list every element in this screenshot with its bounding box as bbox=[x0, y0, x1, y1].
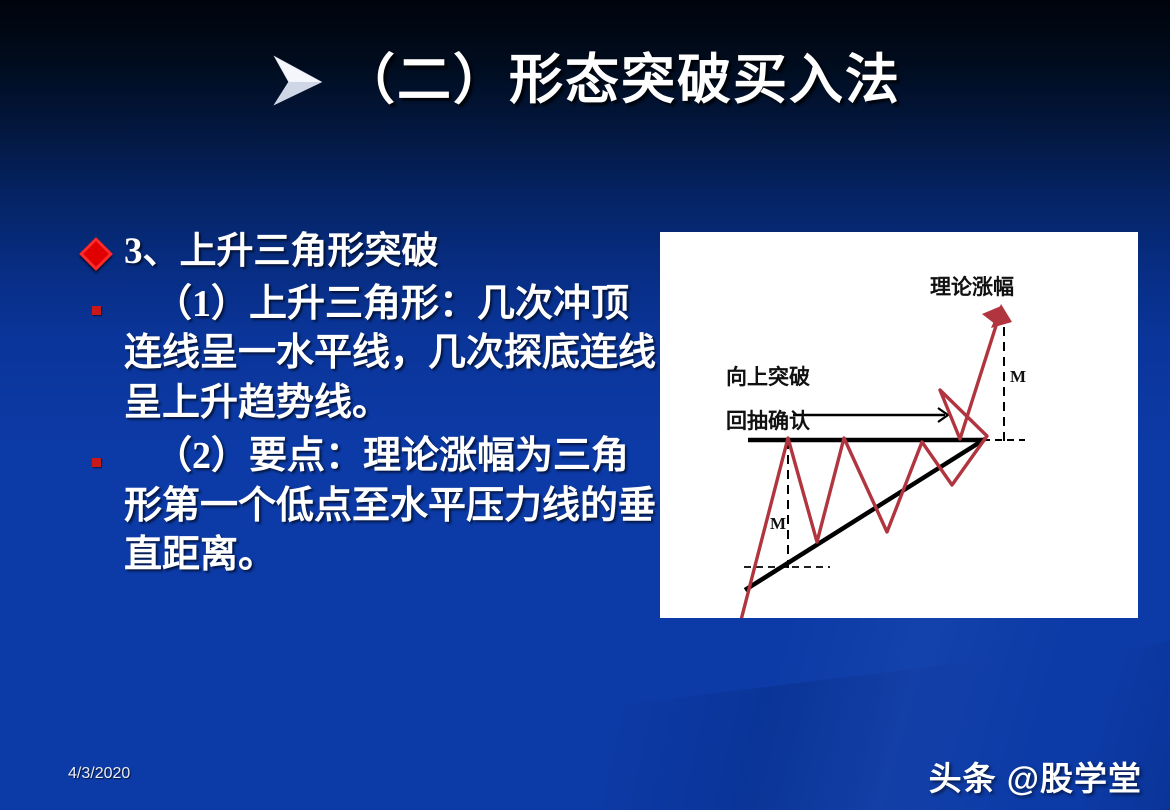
pullback-confirm-label: 回抽确认 bbox=[726, 409, 810, 433]
watermark: 头条 @股学堂 bbox=[929, 752, 1142, 800]
bullet-slot bbox=[78, 280, 124, 315]
measure-label-upper: M bbox=[1010, 367, 1026, 386]
price-zigzag bbox=[740, 310, 1001, 618]
date-stamp: 4/3/2020 bbox=[68, 765, 130, 783]
red-square-bullet-icon bbox=[92, 458, 101, 467]
body-paragraph-1-text: 3、上升三角形突破 bbox=[124, 228, 658, 276]
chart-svg: 理论涨幅 向上突破 回抽确认 M M bbox=[660, 232, 1138, 618]
bullet-slot bbox=[78, 228, 124, 266]
body-paragraph-3: （2）要点：理论涨幅为三角形第一个低点至水平压力线的垂直距离。 bbox=[78, 432, 658, 580]
measure-label-lower: M bbox=[770, 514, 786, 533]
upward-breakout-label: 向上突破 bbox=[726, 365, 810, 389]
body-paragraph-3-text: （2）要点：理论涨幅为三角形第一个低点至水平压力线的垂直距离。 bbox=[124, 432, 658, 580]
page-title: （二）形态突破买入法 bbox=[0, 52, 1170, 109]
slide-canvas: （二）形态突破买入法 3、上升三角形突破 （1）上升三角形：几次冲顶连线呈一水平… bbox=[0, 0, 1170, 810]
body-paragraph-1: 3、上升三角形突破 bbox=[78, 228, 658, 276]
body-content: 3、上升三角形突破 （1）上升三角形：几次冲顶连线呈一水平线，几次探底连线呈上升… bbox=[78, 228, 658, 584]
body-paragraph-2: （1）上升三角形：几次冲顶连线呈一水平线，几次探底连线呈上升趋势线。 bbox=[78, 280, 658, 428]
page-title-text: （二）形态突破买入法 bbox=[341, 52, 901, 109]
theoretical-gain-label: 理论涨幅 bbox=[930, 275, 1014, 299]
ascending-triangle-chart: 理论涨幅 向上突破 回抽确认 M M bbox=[660, 232, 1138, 618]
body-paragraph-2-text: （1）上升三角形：几次冲顶连线呈一水平线，几次探底连线呈上升趋势线。 bbox=[124, 280, 658, 428]
red-diamond-bullet-icon bbox=[79, 237, 113, 271]
bullet-slot bbox=[78, 432, 124, 467]
red-square-bullet-icon bbox=[92, 306, 101, 315]
arrow-head-icon bbox=[269, 52, 327, 108]
